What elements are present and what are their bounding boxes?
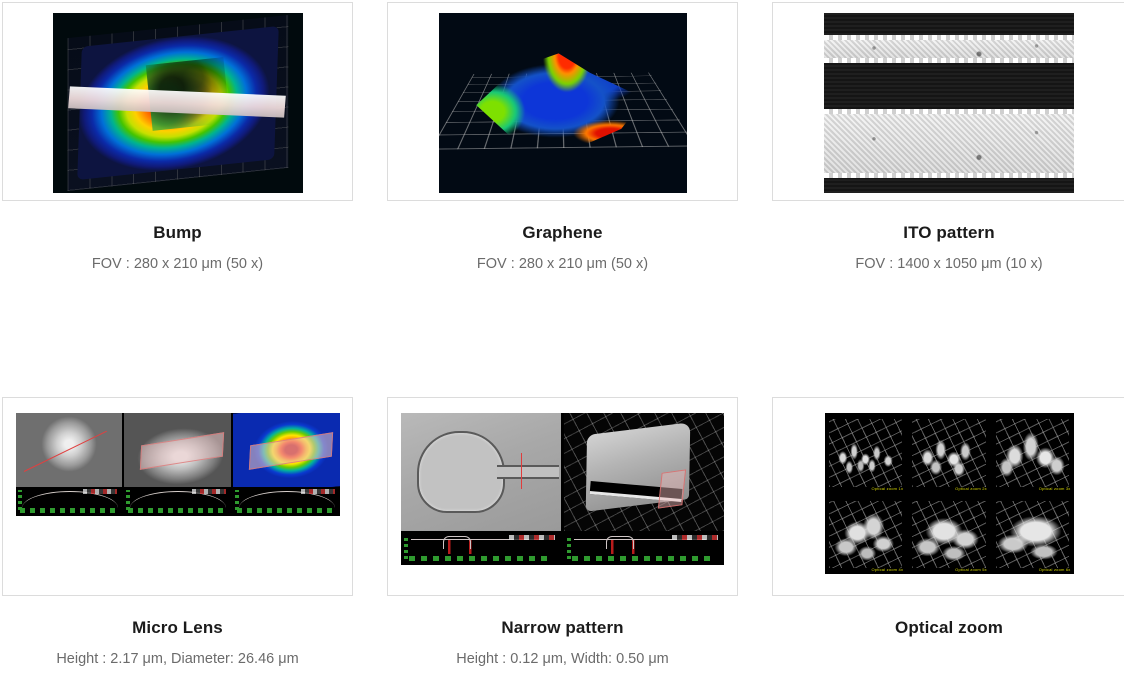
- profile-x-axis: [409, 556, 547, 561]
- ito-bright-band-top: [824, 40, 1074, 60]
- card-micro-lens[interactable]: [2, 397, 353, 596]
- profile-y-axis: [404, 537, 408, 559]
- optical-zoom-cell: Optical zoom 1x: [825, 413, 907, 493]
- particle-surface: [992, 495, 1074, 575]
- bump-image: [53, 13, 303, 193]
- optical-zoom-cell: Optical zoom 2x: [908, 413, 990, 493]
- caption-narrow-pattern: Narrow pattern Height : 0.12 μm, Width: …: [387, 596, 738, 696]
- profile-y-axis: [18, 490, 22, 510]
- section-plane-icon: [658, 469, 686, 508]
- micro-lens-profile-plot: [233, 487, 340, 516]
- caption-micro-lens: Micro Lens Height : 2.17 μm, Diameter: 2…: [2, 596, 353, 696]
- card-optical-zoom[interactable]: Optical zoom 1x Optical zoom 2x Optical …: [772, 397, 1124, 596]
- column-gap: [738, 201, 772, 397]
- card-title: Optical zoom: [772, 618, 1124, 638]
- profile-legend: [192, 489, 226, 494]
- zoom-level-label: Optical zoom 1x: [871, 486, 903, 491]
- caption-optical-zoom: Optical zoom: [772, 596, 1124, 696]
- profile-legend: [301, 489, 335, 494]
- loop-pattern: [417, 431, 505, 513]
- profile-legend: [83, 489, 117, 494]
- profile-y-axis: [126, 490, 130, 510]
- optical-zoom-cell: Optical zoom 6x: [992, 495, 1074, 575]
- particle-surface: [908, 413, 990, 493]
- profile-peak: [443, 536, 471, 549]
- card-subtitle: Height : 0.12 μm, Width: 0.50 μm: [387, 650, 738, 668]
- narrow-pattern-image: [401, 413, 724, 565]
- narrow-pattern-panel-3d: [564, 413, 724, 565]
- profile-trace: [411, 539, 543, 554]
- micro-lens-profile-plot: [124, 487, 231, 516]
- gallery-grid: Bump FOV : 280 x 210 μm (50 x) Graphene …: [0, 0, 1124, 696]
- card-graphene[interactable]: [387, 2, 738, 201]
- column-gap: [353, 2, 387, 201]
- stem-pattern: [497, 465, 559, 479]
- micro-lens-panel-3d-gray: [124, 413, 231, 516]
- caption-graphene: Graphene FOV : 280 x 210 μm (50 x): [387, 201, 738, 397]
- particle-surface: [825, 495, 907, 575]
- profile-legend: [672, 535, 718, 540]
- narrow-pattern-3d-view: [564, 413, 724, 531]
- card-ito-pattern[interactable]: [772, 2, 1124, 201]
- card-subtitle: Height : 2.17 μm, Diameter: 26.46 μm: [2, 650, 353, 668]
- ito-pattern-image: [824, 13, 1074, 193]
- column-gap: [738, 2, 772, 201]
- optical-zoom-cell: Optical zoom 4x: [825, 495, 907, 575]
- card-subtitle: FOV : 280 x 210 μm (50 x): [2, 255, 353, 273]
- micro-lens-panel-optical: [16, 413, 123, 516]
- card-title: Narrow pattern: [387, 618, 738, 638]
- caption-bump: Bump FOV : 280 x 210 μm (50 x): [2, 201, 353, 397]
- column-gap: [738, 596, 772, 696]
- micro-lens-gray-view: [16, 413, 123, 487]
- narrow-pattern-top-view: [401, 413, 561, 531]
- profile-x-axis: [237, 508, 337, 513]
- caption-ito-pattern: ITO pattern FOV : 1400 x 1050 μm (10 x): [772, 201, 1124, 397]
- narrow-pattern-panel-optical: [401, 413, 561, 565]
- zoom-level-label: Optical zoom 4x: [871, 567, 903, 572]
- micro-lens-color-view: [233, 413, 340, 487]
- zoom-level-label: Optical zoom 6x: [1039, 567, 1071, 572]
- profile-y-axis: [567, 537, 571, 559]
- micro-lens-panel-3d-color: [233, 413, 340, 516]
- ito-dark-band-bottom: [824, 178, 1074, 193]
- column-gap: [738, 397, 772, 596]
- particle-surface: [992, 413, 1074, 493]
- profile-legend: [509, 535, 555, 540]
- card-subtitle: FOV : 280 x 210 μm (50 x): [387, 255, 738, 273]
- sample-gallery: Bump FOV : 280 x 210 μm (50 x) Graphene …: [0, 0, 1124, 694]
- narrow-pattern-profile-plot: [564, 533, 724, 565]
- particle-surface: [908, 495, 990, 575]
- column-gap: [353, 201, 387, 397]
- card-title: Micro Lens: [2, 618, 353, 638]
- optical-zoom-cell: Optical zoom 3x: [992, 413, 1074, 493]
- optical-zoom-cell: Optical zoom 5x: [908, 495, 990, 575]
- profile-trace: [574, 539, 706, 554]
- zoom-level-label: Optical zoom 5x: [955, 567, 987, 572]
- zoom-level-label: Optical zoom 2x: [955, 486, 987, 491]
- particle-surface: [825, 413, 907, 493]
- ito-bright-band-main: [824, 114, 1074, 176]
- card-title: Bump: [2, 223, 353, 243]
- graphene-image: [439, 13, 687, 193]
- ito-dark-band-middle: [824, 63, 1074, 111]
- profile-y-axis: [235, 490, 239, 510]
- micro-lens-image: [16, 413, 340, 516]
- column-gap: [353, 596, 387, 696]
- card-narrow-pattern[interactable]: [387, 397, 738, 596]
- micro-lens-3d-view: [124, 413, 231, 487]
- profile-peak: [606, 536, 634, 549]
- card-bump[interactable]: [2, 2, 353, 201]
- profile-x-axis: [20, 508, 120, 513]
- measure-line-icon: [521, 453, 522, 489]
- profile-x-axis: [128, 508, 228, 513]
- zoom-level-label: Optical zoom 3x: [1039, 486, 1071, 491]
- micro-lens-profile-plot: [16, 487, 123, 516]
- card-subtitle: FOV : 1400 x 1050 μm (10 x): [772, 255, 1124, 273]
- narrow-pattern-profile-plot: [401, 533, 561, 565]
- optical-zoom-image: Optical zoom 1x Optical zoom 2x Optical …: [825, 413, 1074, 574]
- profile-x-axis: [572, 556, 710, 561]
- column-gap: [353, 397, 387, 596]
- card-title: Graphene: [387, 223, 738, 243]
- card-title: ITO pattern: [772, 223, 1124, 243]
